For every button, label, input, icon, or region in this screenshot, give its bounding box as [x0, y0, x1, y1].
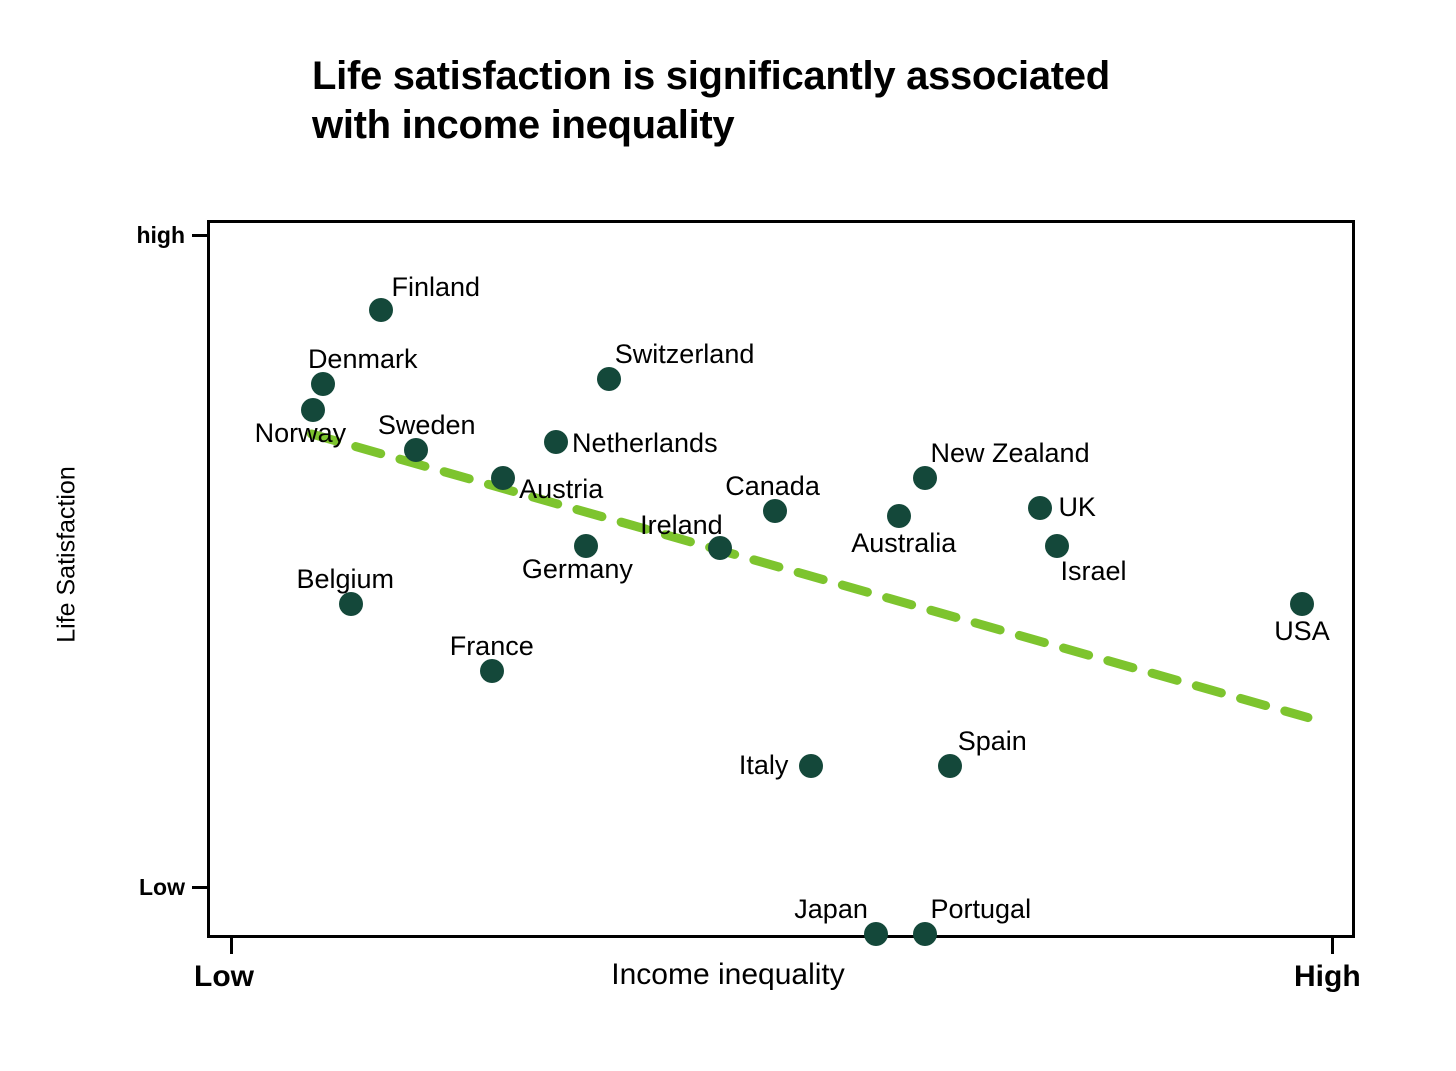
data-point-france[interactable] [480, 659, 504, 683]
data-point-new-zealand[interactable] [913, 466, 937, 490]
data-label-canada: Canada [725, 473, 820, 500]
data-label-france: France [450, 633, 534, 660]
data-label-italy: Italy [739, 752, 789, 779]
page-title: Life satisfaction is significantly assoc… [312, 52, 1322, 150]
data-point-denmark[interactable] [311, 372, 335, 396]
data-point-australia[interactable] [887, 504, 911, 528]
y-axis-tick-label-low: Low [60, 874, 185, 901]
data-point-switzerland[interactable] [597, 367, 621, 391]
data-point-netherlands[interactable] [544, 430, 568, 454]
data-label-austria: Austria [519, 476, 603, 503]
data-label-spain: Spain [958, 728, 1027, 755]
data-label-belgium: Belgium [297, 566, 395, 593]
data-point-spain[interactable] [938, 754, 962, 778]
data-label-ireland: Ireland [640, 512, 723, 539]
data-label-germany: Germany [522, 556, 633, 583]
y-tick-low [192, 886, 207, 889]
data-point-sweden[interactable] [404, 438, 428, 462]
data-label-israel: Israel [1061, 558, 1127, 585]
y-tick-high [192, 234, 207, 237]
data-point-belgium[interactable] [339, 592, 363, 616]
data-point-japan[interactable] [864, 922, 888, 946]
data-label-portugal: Portugal [931, 896, 1032, 923]
data-label-sweden: Sweden [378, 412, 476, 439]
scatter-chart: Life satisfaction is significantly assoc… [0, 0, 1456, 1071]
data-label-uk: UK [1058, 494, 1096, 521]
y-axis-title: Life Satisfaction [53, 430, 82, 680]
data-label-denmark: Denmark [308, 346, 418, 373]
data-label-norway: Norway [255, 420, 347, 447]
x-axis-title: Income inequality [0, 958, 1456, 992]
data-label-finland: Finland [391, 274, 480, 301]
data-label-australia: Australia [851, 530, 956, 557]
data-point-israel[interactable] [1045, 534, 1069, 558]
data-label-japan: Japan [794, 896, 868, 923]
data-point-canada[interactable] [763, 499, 787, 523]
x-tick-high [1331, 938, 1334, 954]
y-axis-tick-label-high: high [60, 222, 185, 249]
data-label-netherlands: Netherlands [572, 430, 718, 457]
x-tick-low [230, 938, 233, 954]
data-point-italy[interactable] [799, 754, 823, 778]
data-point-portugal[interactable] [913, 922, 937, 946]
data-label-usa: USA [1274, 618, 1330, 645]
data-label-switzerland: Switzerland [615, 341, 755, 368]
data-label-new-zealand: New Zealand [931, 440, 1090, 467]
